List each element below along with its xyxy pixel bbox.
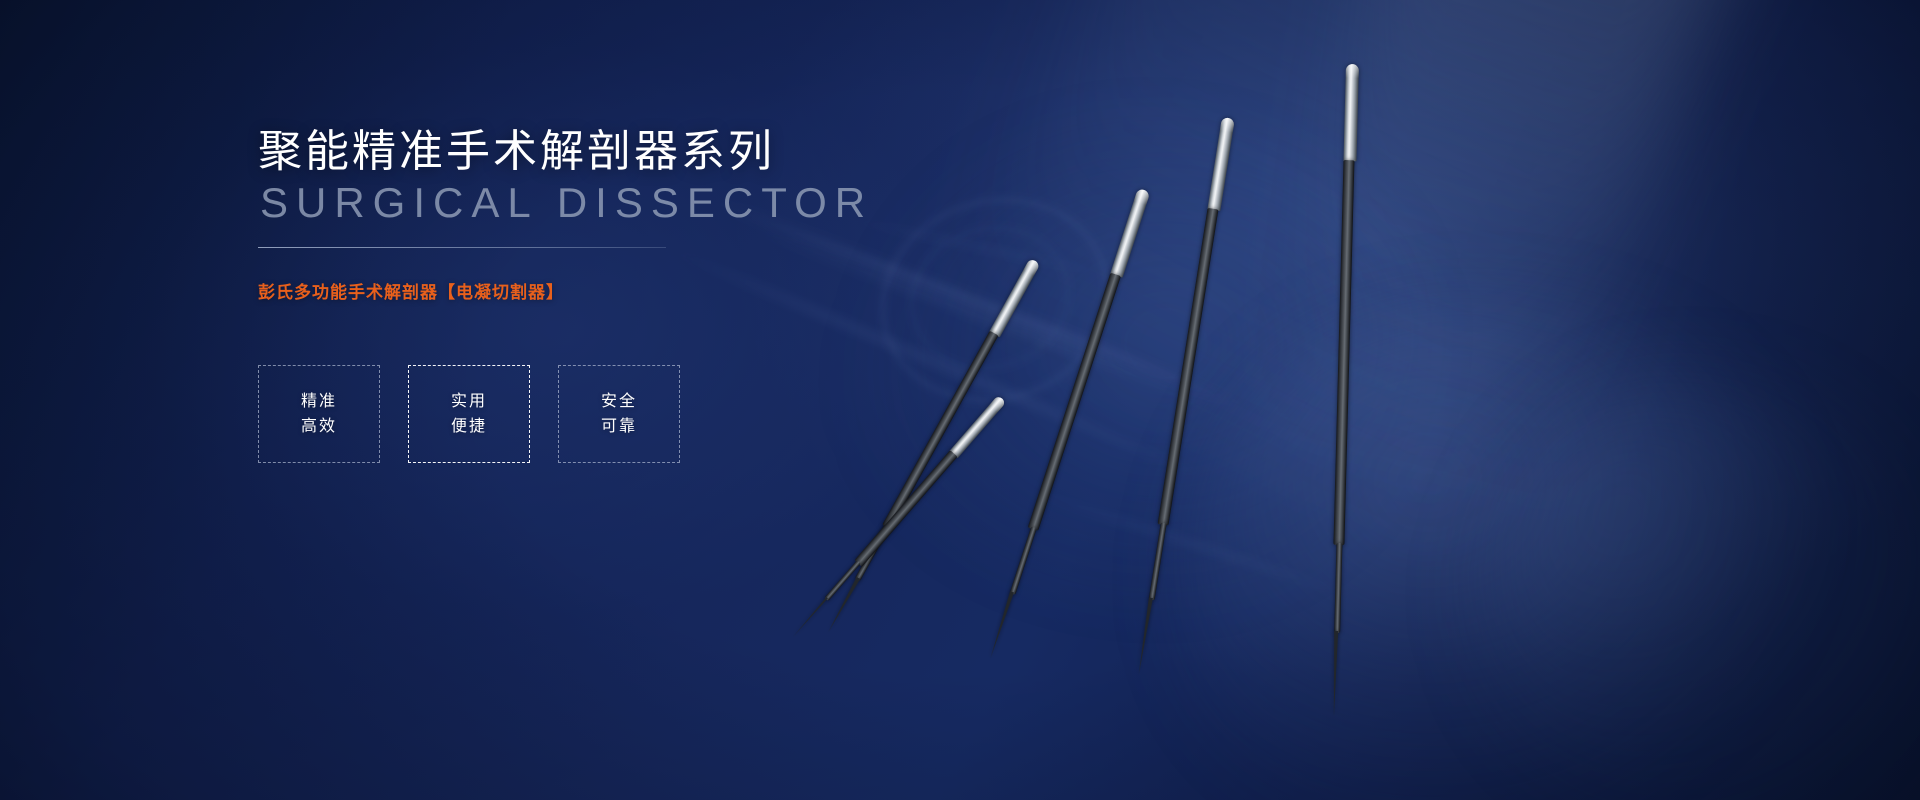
instrument-shaft-taper — [1334, 543, 1342, 633]
instrument-handle — [1343, 64, 1359, 161]
instrument-shaft — [1158, 208, 1219, 526]
instrument-tip — [1137, 598, 1153, 676]
banner-content: 聚能精准手术解剖器系列 SURGICAL DISSECTOR 彭氏多功能手术解剖… — [258, 0, 1018, 800]
divider — [258, 247, 666, 248]
feature-line-2: 高效 — [301, 419, 337, 435]
instrument-handle — [1207, 117, 1234, 211]
feature-line-1: 精准 — [301, 394, 337, 410]
feature-line-1: 实用 — [451, 394, 487, 410]
feature-line-2: 可靠 — [601, 419, 637, 435]
instrument-tip — [1332, 631, 1338, 717]
feature-line-2: 便捷 — [451, 419, 487, 435]
feature-line-1: 安全 — [601, 394, 637, 410]
feature-box-group: 精准 高效 实用 便捷 安全 可靠 — [258, 365, 680, 463]
feature-box-practical[interactable]: 实用 便捷 — [408, 365, 530, 463]
feature-box-precision[interactable]: 精准 高效 — [258, 365, 380, 463]
page-subtitle-english: SURGICAL DISSECTOR — [260, 178, 873, 228]
instrument-handle — [1110, 188, 1150, 278]
page-title: 聚能精准手术解剖器系列 — [258, 124, 775, 179]
instrument-shaft-taper — [1148, 522, 1166, 600]
product-hero-banner: 聚能精准手术解剖器系列 SURGICAL DISSECTOR 彭氏多功能手术解剖… — [0, 0, 1920, 800]
instrument-shaft — [1333, 160, 1354, 545]
feature-box-safety[interactable]: 安全 可靠 — [558, 365, 680, 463]
product-name-accent: 彭氏多功能手术解剖器【电凝切割器】 — [258, 278, 564, 303]
instrument-shaft — [1028, 273, 1121, 531]
